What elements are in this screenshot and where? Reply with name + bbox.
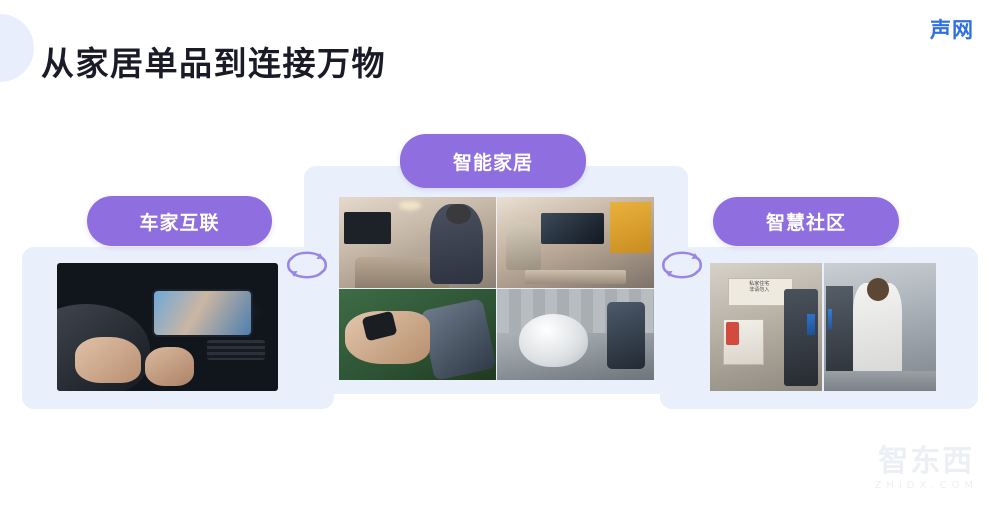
car-air-vent-shape [207,340,264,360]
label-smart-home: 智能家居 [400,134,586,188]
speaker-body-shape [519,314,588,367]
watermark-sub-text: ZHIDX.COM [874,480,978,491]
access-kiosk-screen [807,314,814,335]
access-kiosk-shape [826,286,853,383]
community-resident-photo [824,263,936,391]
phone-shape [607,302,645,369]
ground-shape [824,371,936,391]
driver-hand-shape [75,337,141,383]
access-kiosk-shape [784,289,818,386]
phone-shape [420,298,496,380]
access-kiosk-screen [828,309,833,328]
label-smart-community: 智慧社区 [713,197,899,246]
connector-home-to-community [655,246,709,284]
car-center-screen [154,291,251,335]
tv-screen-shape [541,213,604,244]
child-shape [506,222,541,269]
car-cockpit-photo [57,263,278,391]
gate-poster-red-badge [726,322,739,345]
tv-cabinet-shape [525,270,625,285]
decorative-corner-arc [0,14,34,82]
gate-sign-line-2: 非请勿入 [749,287,769,293]
watermark: 智东西 ZHIDX.COM [874,447,978,491]
living-room-photo [339,197,496,288]
ceiling-light-shape [399,201,421,210]
tv-shape [344,212,391,245]
brand-logo: 声网 [930,14,974,44]
tv-room-photo [497,197,654,288]
connector-car-to-home [280,246,334,284]
yellow-wall-shape [610,202,651,253]
page-title: 从家居单品到连接万物 [41,37,386,85]
driver-hand-shape-2 [145,347,194,385]
gate-sign-text: 私家住宅 非请勿入 [730,281,788,301]
smart-speaker-photo [497,289,654,380]
watermark-main-text: 智东西 [874,447,978,477]
smartwatch-photo [339,289,496,380]
label-car-home: 车家互联 [87,196,272,246]
community-gate-photo: 私家住宅 非请勿入 [710,263,822,391]
